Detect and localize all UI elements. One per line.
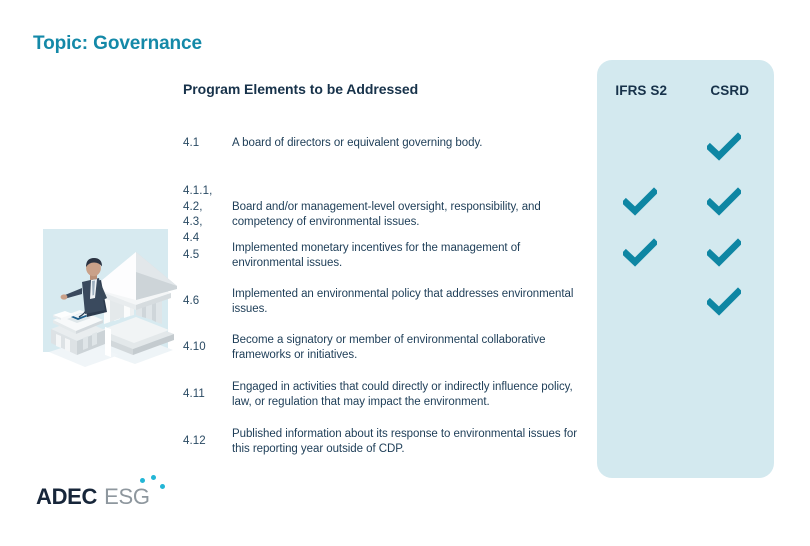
row-description: Implemented an environmental policy that… [232,287,583,317]
row-description: Board and/or management-level oversight,… [232,200,583,230]
table-row: 4.10Become a signatory or member of envi… [183,333,583,363]
row-description: Published information about its response… [232,427,583,457]
row-description: Become a signatory or member of environm… [232,333,583,363]
row-description: A board of directors or equivalent gover… [232,136,583,151]
page-title: Topic: Governance [33,33,202,55]
table-row: 4.1A board of directors or equivalent go… [183,136,583,152]
logo-dots-icon [140,475,168,495]
government-building-podium-illustration [35,222,183,387]
row-number: 4.5 [183,248,232,264]
adec-esg-logo: ADEC ESG [36,484,150,512]
row-description: Implemented monetary incentives for the … [232,241,583,271]
comparison-column-headers: IFRS S2 CSRD [597,83,774,98]
table-row: 4.11Engaged in activities that could dir… [183,380,583,410]
standards-comparison-panel: IFRS S2 CSRD [597,60,774,478]
row-description: Engaged in activities that could directl… [232,380,583,410]
row-number: 4.6 [183,294,232,310]
column-header-csrd: CSRD [686,83,775,98]
column-header-ifrs-s2: IFRS S2 [597,83,686,98]
table-row: 4.12Published information about its resp… [183,427,583,457]
logo-text-adec: ADEC [36,484,97,510]
row-number: 4.1.1, 4.2, 4.3, 4.4 [183,184,232,246]
table-column-header-program-elements: Program Elements to be Addressed [183,81,418,97]
table-row: 4.6Implemented an environmental policy t… [183,287,583,317]
row-number: 4.12 [183,434,232,450]
row-number: 4.11 [183,387,232,403]
row-number: 4.10 [183,340,232,356]
table-row: 4.5Implemented monetary incentives for t… [183,241,583,271]
row-number: 4.1 [183,136,232,152]
table-row: 4.1.1, 4.2, 4.3, 4.4Board and/or managem… [183,184,583,246]
